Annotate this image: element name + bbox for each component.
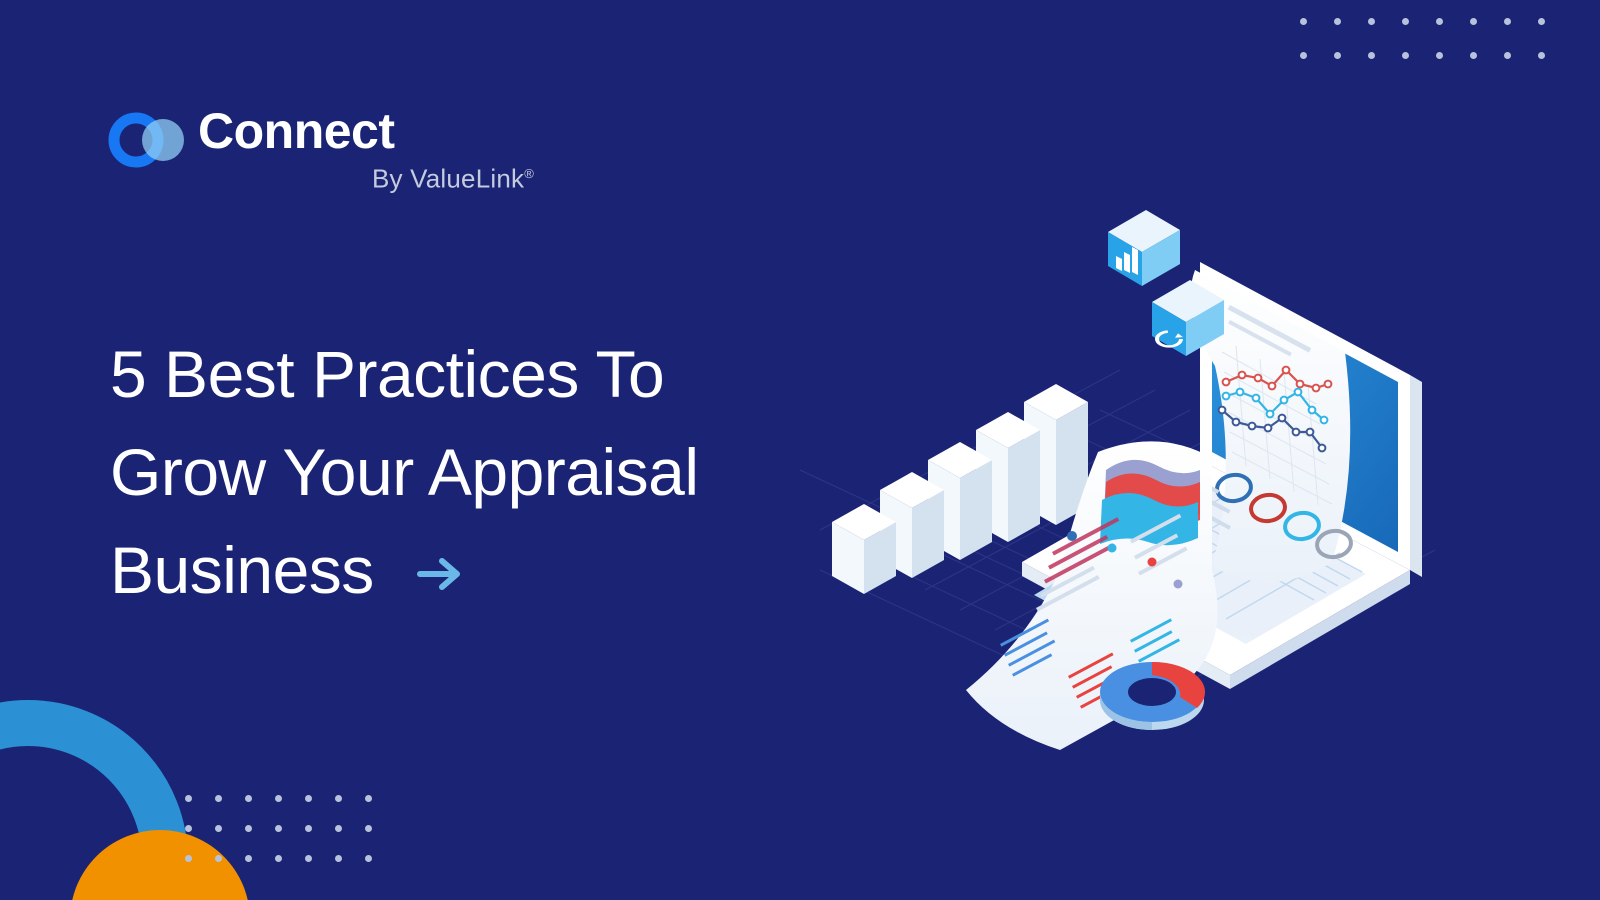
grid-dot bbox=[245, 855, 252, 862]
grid-dot bbox=[1504, 18, 1511, 25]
grid-dot bbox=[215, 795, 222, 802]
grid-dot bbox=[1334, 52, 1341, 59]
connect-logo-mark-icon bbox=[108, 111, 190, 169]
isometric-donut-chart bbox=[1100, 662, 1205, 730]
grid-dot bbox=[1300, 18, 1307, 25]
grid-dot bbox=[275, 855, 282, 862]
logo-subtitle: By ValueLink® bbox=[198, 159, 538, 194]
grid-dot bbox=[1538, 52, 1545, 59]
grid-dot bbox=[335, 825, 342, 832]
grid-dot bbox=[275, 825, 282, 832]
page-title: 5 Best Practices To Grow Your Appraisal … bbox=[110, 325, 810, 630]
grid-dot bbox=[1470, 52, 1477, 59]
registered-mark: ® bbox=[524, 166, 534, 181]
grid-dot bbox=[1436, 52, 1443, 59]
grid-dot bbox=[1368, 52, 1375, 59]
grid-dot bbox=[215, 855, 222, 862]
isometric-analytics-illustration bbox=[760, 170, 1480, 790]
grid-dot bbox=[365, 795, 372, 802]
grid-dot bbox=[1402, 18, 1409, 25]
bar-1 bbox=[832, 504, 896, 594]
grid-dot bbox=[335, 795, 342, 802]
grid-dot bbox=[1504, 52, 1511, 59]
grid-dot bbox=[365, 825, 372, 832]
grid-dot bbox=[1300, 52, 1307, 59]
grid-dot bbox=[1538, 18, 1545, 25]
grid-dot bbox=[305, 795, 312, 802]
grid-dot bbox=[185, 825, 192, 832]
grid-dot bbox=[1402, 52, 1409, 59]
grid-dot bbox=[1368, 18, 1375, 25]
grid-dot bbox=[185, 855, 192, 862]
grid-dot bbox=[245, 825, 252, 832]
headline-line-2: Grow Your Appraisal bbox=[110, 423, 810, 521]
grid-dot bbox=[275, 795, 282, 802]
grid-dot bbox=[335, 855, 342, 862]
grid-dot bbox=[365, 855, 372, 862]
grid-dot bbox=[305, 855, 312, 862]
grid-dot bbox=[215, 825, 222, 832]
grid-dot bbox=[1334, 18, 1341, 25]
logo-title: Connect bbox=[198, 103, 538, 159]
grid-dot bbox=[185, 795, 192, 802]
bar-chart-icon bbox=[1108, 210, 1180, 286]
grid-dot bbox=[305, 825, 312, 832]
headline-line-3: Business bbox=[110, 533, 374, 607]
arrow-right-icon[interactable] bbox=[414, 522, 466, 620]
logo-subtitle-text: By ValueLink bbox=[372, 164, 524, 194]
grid-dot bbox=[1436, 18, 1443, 25]
headline-line-1: 5 Best Practices To bbox=[110, 325, 810, 423]
grid-dot bbox=[1470, 18, 1477, 25]
grid-dot bbox=[245, 795, 252, 802]
headline-line-3-wrap: Business bbox=[110, 521, 810, 630]
